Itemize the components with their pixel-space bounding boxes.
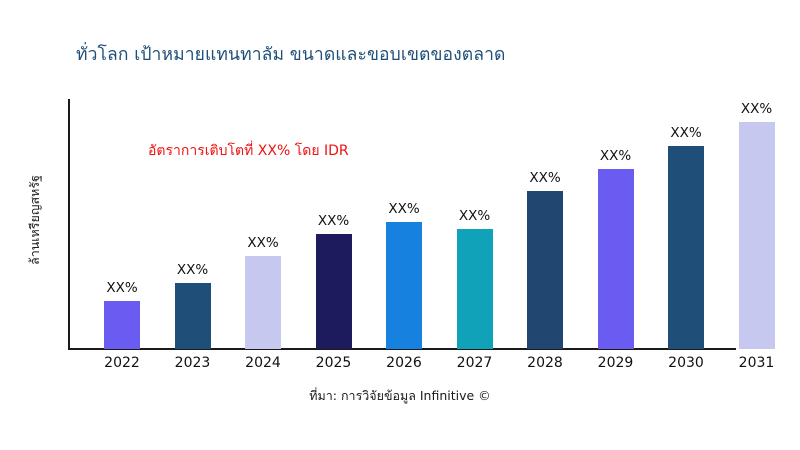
- bars-layer: XX%XX%XX%XX%XX%XX%XX%XX%XX%XX%: [68, 99, 800, 349]
- bar-group: XX%: [527, 99, 563, 349]
- bar-value-label-2029: XX%: [600, 148, 631, 164]
- bar-group: XX%: [175, 99, 211, 349]
- bar-value-label-2022: XX%: [106, 280, 137, 296]
- x-tick-2023: 2023: [163, 355, 223, 371]
- bar-2023[interactable]: [175, 283, 211, 349]
- y-axis-label: ล้านเหรียญสหรัฐ: [25, 175, 45, 265]
- x-tick-2027: 2027: [445, 355, 505, 371]
- bar-group: XX%: [598, 99, 634, 349]
- growth-rate-annotation: อัตราการเติบโตที่ XX% โดย IDR: [148, 140, 349, 162]
- bar-group: XX%: [739, 99, 775, 349]
- bar-2031[interactable]: [739, 122, 775, 349]
- bar-value-label-2024: XX%: [247, 235, 278, 251]
- x-axis-tick-labels: 2022202320242025202620272028202920302031: [68, 355, 800, 377]
- x-tick-2024: 2024: [233, 355, 293, 371]
- bar-value-label-2030: XX%: [670, 125, 701, 141]
- bar-value-label-2028: XX%: [529, 170, 560, 186]
- x-tick-2031: 2031: [727, 355, 787, 371]
- bar-group: XX%: [104, 99, 140, 349]
- bar-2028[interactable]: [527, 191, 563, 349]
- bar-group: XX%: [668, 99, 704, 349]
- bar-value-label-2031: XX%: [741, 101, 772, 117]
- chart-container: ทั่วโลก เป้าหมายแทนทาลัม ขนาดและขอบเขตขอ…: [0, 0, 800, 450]
- bar-value-label-2026: XX%: [388, 201, 419, 217]
- bar-value-label-2023: XX%: [177, 262, 208, 278]
- x-tick-2026: 2026: [374, 355, 434, 371]
- bar-2027[interactable]: [457, 229, 493, 349]
- bar-2026[interactable]: [386, 222, 422, 349]
- bar-group: XX%: [316, 99, 352, 349]
- bar-2025[interactable]: [316, 234, 352, 349]
- x-tick-2025: 2025: [304, 355, 364, 371]
- x-tick-2022: 2022: [92, 355, 152, 371]
- chart-title: ทั่วโลก เป้าหมายแทนทาลัม ขนาดและขอบเขตขอ…: [76, 40, 505, 68]
- y-axis-label-wrapper: ล้านเหรียญสหรัฐ: [24, 100, 46, 340]
- bar-2024[interactable]: [245, 256, 281, 349]
- bar-group: XX%: [245, 99, 281, 349]
- bar-value-label-2025: XX%: [318, 213, 349, 229]
- bar-2029[interactable]: [598, 169, 634, 349]
- x-tick-2030: 2030: [656, 355, 716, 371]
- bar-group: XX%: [457, 99, 493, 349]
- x-tick-2028: 2028: [515, 355, 575, 371]
- x-tick-2029: 2029: [586, 355, 646, 371]
- bar-2030[interactable]: [668, 146, 704, 349]
- bar-value-label-2027: XX%: [459, 208, 490, 224]
- bar-2022[interactable]: [104, 301, 140, 349]
- bar-group: XX%: [386, 99, 422, 349]
- source-note: ที่มา: การวิจัยข้อมูล Infinitive ©: [0, 386, 800, 406]
